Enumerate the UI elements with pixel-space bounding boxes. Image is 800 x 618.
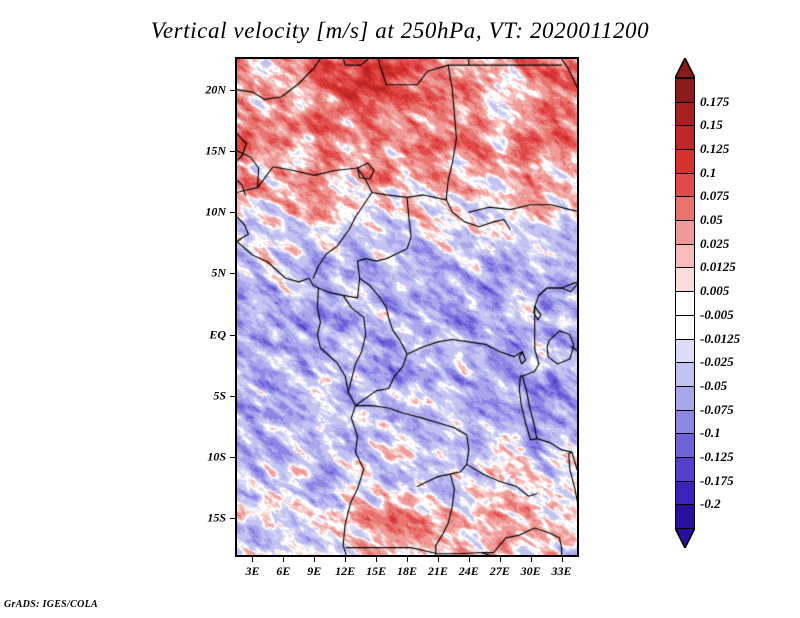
colorbar-tick-label: 0.15 (700, 117, 723, 133)
x-axis-tick (252, 557, 253, 562)
colorbar-cell (675, 410, 695, 435)
colorbar-cell (675, 433, 695, 458)
page-title: Vertical velocity [m/s] at 250hPa, VT: 2… (0, 18, 800, 44)
colorbar-cell (675, 362, 695, 387)
colorbar-tick-label: 0.1 (700, 165, 716, 181)
x-axis-label-21e: 21E (428, 564, 448, 579)
colorbar-tick-label: 0.125 (700, 141, 729, 157)
x-axis-label-27e: 27E (490, 564, 510, 579)
colorbar-tick-label: 0.075 (700, 188, 729, 204)
x-axis-tick (562, 557, 563, 562)
x-axis-label-3e: 3E (245, 564, 259, 579)
colorbar-cell (675, 267, 695, 292)
x-axis-tick (531, 557, 532, 562)
x-axis-label-30e: 30E (521, 564, 541, 579)
colorbar-tick-label: -0.025 (700, 354, 734, 370)
colorbar-tick-label: -0.075 (700, 402, 734, 418)
colorbar-cell (675, 504, 695, 529)
y-axis-label-5s: 5S (188, 388, 226, 403)
colorbar-cell (675, 386, 695, 411)
colorbar-cell (675, 339, 695, 364)
colorbar-cell (675, 102, 695, 127)
x-axis-label-15e: 15E (366, 564, 386, 579)
colorbar-cell (675, 457, 695, 482)
x-axis-label-33e: 33E (552, 564, 572, 579)
y-axis-label-10s: 10S (188, 450, 226, 465)
y-axis-label-5n: 5N (188, 266, 226, 281)
colorbar-tick-label: -0.0125 (700, 331, 740, 347)
colorbar-tick-label: 0.175 (700, 94, 729, 110)
y-axis-tick (230, 335, 235, 336)
colorbar-cell (675, 291, 695, 316)
y-axis-label-15s: 15S (188, 511, 226, 526)
y-axis-tick (230, 273, 235, 274)
colorbar-tick-label: -0.005 (700, 307, 734, 323)
colorbar-tick-label: -0.1 (700, 425, 721, 441)
colorbar-tick-label: -0.175 (700, 473, 734, 489)
colorbar-legend[interactable]: 0.1750.150.1250.10.0750.050.0250.01250.0… (675, 78, 695, 528)
colorbar-tick-label: -0.05 (700, 378, 727, 394)
y-axis-label-20n: 20N (188, 82, 226, 97)
colorbar-cell (675, 481, 695, 506)
x-axis-tick (345, 557, 346, 562)
x-axis-label-9e: 9E (307, 564, 321, 579)
colorbar-tick-label: 0.005 (700, 283, 729, 299)
colorbar-extend-high-arrow-icon (675, 58, 695, 78)
x-axis-tick (314, 557, 315, 562)
x-axis-tick (283, 557, 284, 562)
y-axis-tick (230, 212, 235, 213)
colorbar-cell (675, 244, 695, 269)
colorbar-cell (675, 173, 695, 198)
y-axis-tick (230, 518, 235, 519)
y-axis-tick (230, 396, 235, 397)
x-axis-tick (376, 557, 377, 562)
x-axis-tick (500, 557, 501, 562)
colorbar-tick-label: 0.05 (700, 212, 723, 228)
colorbar-tick-label: -0.125 (700, 449, 734, 465)
colorbar-cell (675, 125, 695, 150)
x-axis-tick (407, 557, 408, 562)
map-plot-panel[interactable] (235, 57, 579, 557)
x-axis-label-18e: 18E (397, 564, 417, 579)
colorbar-tick-label: 0.0125 (700, 259, 736, 275)
x-axis-label-24e: 24E (459, 564, 479, 579)
x-axis-tick (469, 557, 470, 562)
colorbar-cell (675, 78, 695, 103)
colorbar-cell (675, 149, 695, 174)
y-axis-tick (230, 457, 235, 458)
colorbar-cell (675, 196, 695, 221)
colorbar-cell (675, 220, 695, 245)
y-axis-label-eq: EQ (188, 327, 226, 342)
y-axis-label-10n: 10N (188, 205, 226, 220)
x-axis-tick (438, 557, 439, 562)
x-axis-label-12e: 12E (335, 564, 355, 579)
vertical-velocity-field (237, 59, 577, 555)
y-axis-tick (230, 151, 235, 152)
y-axis-label-15n: 15N (188, 143, 226, 158)
colorbar-cell (675, 315, 695, 340)
colorbar-tick-label: -0.2 (700, 496, 721, 512)
colorbar-extend-low-arrow-icon (675, 528, 695, 548)
colorbar-tick-label: 0.025 (700, 236, 729, 252)
footer-credit: GrADS: IGES/COLA (4, 599, 98, 610)
y-axis-tick (230, 90, 235, 91)
x-axis-label-6e: 6E (276, 564, 290, 579)
